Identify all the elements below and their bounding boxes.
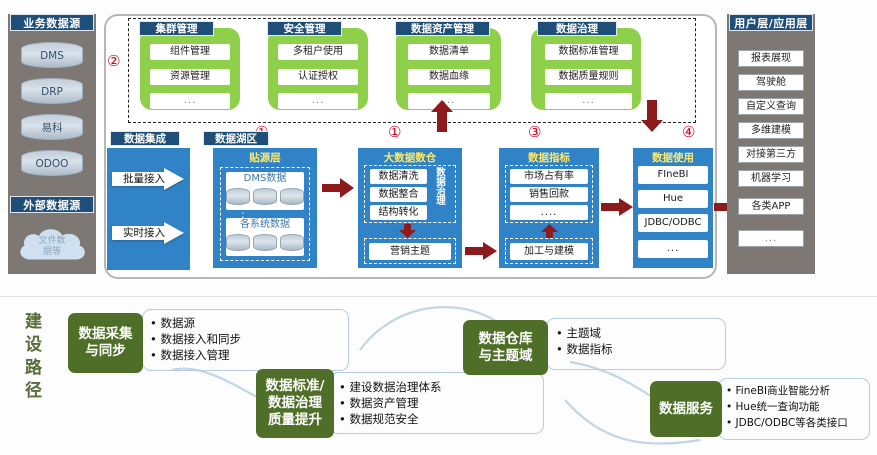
roadmap-stage-2-label: 数据标准/数据治理质量提升	[266, 378, 325, 429]
marker-2: ②	[107, 54, 120, 69]
external-data-cloud-label: 文件数 据等	[38, 236, 65, 258]
metrics-modeling-box[interactable]: 加工与建模	[510, 243, 588, 260]
metrics-item-sales-collection[interactable]: 销售回款	[510, 187, 588, 202]
marker-4-usage: ④	[682, 125, 695, 140]
roadmap-bullet-text: Hue统一查询功能	[736, 401, 820, 413]
green-item-asset-0[interactable]: 数据清单	[408, 44, 490, 60]
datasource-db-yike[interactable]: 易科	[21, 114, 83, 140]
data-integration-title: 数据集成	[110, 131, 180, 146]
roadmap-bullet-text: 数据规范安全	[349, 412, 418, 426]
roadmap-stage-4-label: 数据服务	[659, 401, 713, 418]
batch-ingest-label: 批量接入	[116, 168, 172, 190]
green-panel-cluster-title: 集群管理	[139, 21, 214, 36]
green-item-cluster-2[interactable]: ...	[150, 93, 230, 109]
lake-group-systems[interactable]: 各系统数据	[226, 218, 304, 256]
green-panel-asset-title: 数据资产管理	[395, 21, 490, 36]
lake-cylinder	[280, 188, 304, 205]
metrics-item-market-share[interactable]: 市场占有率	[510, 169, 588, 184]
arrow-down-governance	[640, 100, 664, 132]
lake-cylinder	[253, 234, 277, 251]
roadmap-bullet: • 数据接入管理	[148, 347, 343, 363]
external-data-cloud: 文件数 据等	[14, 225, 90, 269]
user-item-more[interactable]: ...	[738, 230, 804, 247]
warehouse-item-transform[interactable]: 结构转化	[370, 205, 427, 220]
green-item-governance-2[interactable]: ...	[545, 93, 632, 109]
roadmap-bullets-1: • 数据源 • 数据接入和同步 • 数据接入管理	[148, 315, 343, 363]
arrow-up-metrics	[541, 224, 558, 238]
data-metrics-head: 数据指标	[499, 150, 599, 165]
roadmap-bullet: • 主题域	[554, 325, 719, 341]
datasource-db-odoo[interactable]: ODOO	[21, 150, 83, 176]
data-usage-head: 数据使用	[633, 150, 713, 165]
green-item-cluster-0[interactable]: 组件管理	[150, 44, 230, 60]
roadmap-bullet-text: 主题域	[566, 326, 601, 340]
roadmap-bullet: • 数据指标	[554, 341, 719, 357]
green-item-governance-1[interactable]: 数据质量规则	[545, 69, 632, 85]
arrow-warehouse-to-metrics	[465, 242, 497, 260]
roadmap-stage-2[interactable]: 数据标准/数据治理质量提升	[256, 369, 334, 438]
arrow-up-asset	[430, 100, 454, 132]
roadmap-bullet: • 数据源	[148, 315, 343, 331]
user-item-third-party[interactable]: 对接第三方	[738, 146, 804, 163]
green-item-security-2[interactable]: ...	[278, 93, 358, 109]
usage-item-finebi[interactable]: FIneBI	[638, 166, 708, 184]
warehouse-subject-marketing[interactable]: 营销主题	[369, 243, 451, 260]
green-item-security-1[interactable]: 认证授权	[278, 69, 358, 85]
business-data-source-title: 业务数据源	[10, 14, 94, 31]
roadmap-bullet: • FineBI商业智能分析	[724, 383, 874, 399]
lake-group-dms-label: DMS数据	[226, 172, 304, 186]
roadmap-stage-3-label: 数据仓库与主题域	[479, 331, 533, 365]
green-panel-governance-title: 数据治理	[537, 21, 617, 36]
roadmap-bullet-text: 数据接入管理	[160, 348, 229, 362]
warehouse-item-cleanse[interactable]: 数据清洗	[370, 169, 427, 184]
usage-item-hue[interactable]: Hue	[638, 190, 708, 208]
lake-cylinder	[226, 234, 250, 251]
green-item-governance-0[interactable]: 数据标准管理	[545, 44, 632, 60]
metrics-item-more[interactable]: ....	[510, 205, 588, 220]
roadmap-bullet-text: 建设数据治理体系	[349, 380, 441, 394]
marker-3-metrics: ③	[528, 125, 541, 140]
user-item-machine-learning[interactable]: 机器学习	[738, 170, 804, 187]
lake-vertical-dots: :	[241, 212, 245, 217]
external-data-source-title: 外部数据源	[10, 196, 94, 213]
cloud-label-line2: 据等	[43, 247, 61, 257]
user-item-apps[interactable]: 各类APP	[738, 198, 804, 215]
roadmap-label: 建设路径	[18, 312, 44, 404]
batch-ingest-arrow[interactable]: 批量接入	[112, 168, 184, 190]
roadmap-bullet: • 建设数据治理体系	[337, 379, 537, 395]
roadmap-stage-4[interactable]: 数据服务	[650, 381, 722, 437]
roadmap-bullet-text: 数据指标	[566, 342, 612, 356]
roadmap-stage-3[interactable]: 数据仓库与主题域	[463, 320, 548, 375]
data-lake-title: 数据湖区	[203, 131, 269, 146]
datasource-db-dms[interactable]: DMS	[21, 42, 83, 68]
data-lake-head: 贴源层	[213, 150, 317, 165]
green-panel-security-title: 安全管理	[267, 21, 342, 36]
usage-item-more[interactable]: ...	[638, 240, 708, 258]
roadmap-bullet-text: 数据接入和同步	[160, 332, 241, 346]
roadmap-bullet: • 数据接入和同步	[148, 331, 343, 347]
roadmap-bullets-4: • FineBI商业智能分析 • Hue统一查询功能 • JDBC/ODBC等各…	[724, 383, 874, 431]
arrow-lake-to-warehouse	[322, 178, 354, 198]
roadmap-bullet-text: JDBC/ODBC等各类接口	[736, 417, 848, 429]
arrow-metrics-to-usage	[601, 198, 633, 216]
lake-cylinder	[226, 188, 250, 205]
roadmap-bullets-3: • 主题域 • 数据指标	[554, 325, 719, 357]
user-item-report[interactable]: 报表展现	[738, 50, 804, 67]
datasource-db-drp[interactable]: DRP	[21, 78, 83, 104]
green-item-security-0[interactable]: 多租户使用	[278, 44, 358, 60]
data-integration-panel	[107, 148, 190, 270]
roadmap-stage-1-label: 数据采集与同步	[79, 326, 133, 360]
roadmap-bullet: • Hue统一查询功能	[724, 399, 874, 415]
user-application-layer-title: 用户层/应用层	[729, 14, 813, 31]
marker-1-warehouse: ①	[388, 125, 401, 140]
roadmap-bullet-text: 数据源	[160, 316, 195, 330]
lake-cylinder	[280, 234, 304, 251]
user-item-custom-query[interactable]: 自定义查询	[738, 98, 804, 115]
lake-group-systems-label: 各系统数据	[226, 218, 304, 232]
roadmap-bullet: • JDBC/ODBC等各类接口	[724, 415, 874, 431]
lake-cylinder	[253, 188, 277, 205]
green-item-cluster-1[interactable]: 资源管理	[150, 69, 230, 85]
warehouse-vertical-governance-label: 数据治理	[432, 167, 446, 205]
warehouse-item-integrate[interactable]: 数据整合	[370, 187, 427, 202]
arrow-down-warehouse	[399, 224, 416, 238]
usage-item-jdbc-odbc[interactable]: JDBC/ODBC	[638, 214, 708, 232]
user-item-multidim-model[interactable]: 多维建模	[738, 122, 804, 139]
lake-group-dms[interactable]: DMS数据	[226, 172, 304, 210]
bigdata-warehouse-head: 大数据数仓	[358, 150, 462, 165]
roadmap-bullet: • 数据资产管理	[337, 395, 537, 411]
green-item-asset-1[interactable]: 数据血缘	[408, 69, 490, 85]
roadmap-bullet-text: FineBI商业智能分析	[736, 385, 831, 397]
user-item-cockpit[interactable]: 驾驶舱	[738, 74, 804, 91]
realtime-ingest-arrow[interactable]: 实时接入	[112, 222, 184, 244]
roadmap-bullet: • 数据规范安全	[337, 411, 537, 427]
realtime-ingest-label: 实时接入	[116, 222, 172, 244]
roadmap-bullet-text: 数据资产管理	[349, 396, 418, 410]
roadmap-stage-1[interactable]: 数据采集与同步	[68, 313, 143, 373]
cloud-label-line1: 文件数	[38, 236, 65, 246]
roadmap-bullets-2: • 建设数据治理体系 • 数据资产管理 • 数据规范安全	[337, 379, 537, 427]
